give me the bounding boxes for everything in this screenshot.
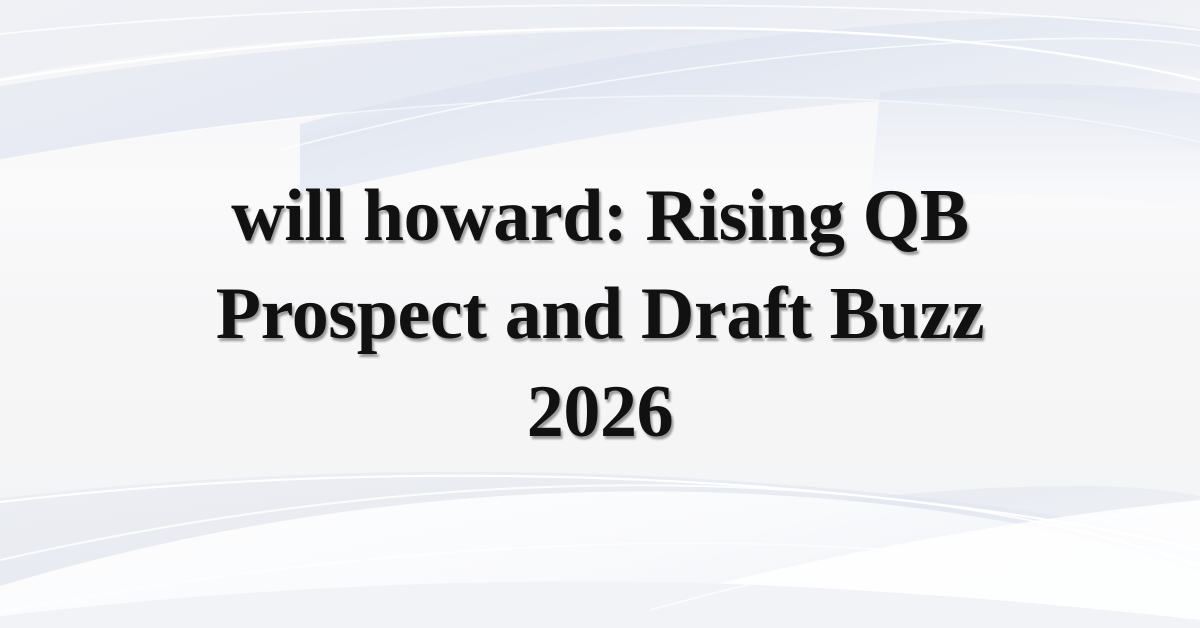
headline-line-3: 2026 (216, 363, 984, 461)
headline-line-1: will howard: Rising QB (216, 167, 984, 265)
social-share-banner: will howard: Rising QB Prospect and Draf… (0, 0, 1200, 628)
page-title: will howard: Rising QB Prospect and Draf… (216, 167, 984, 461)
headline-container: will howard: Rising QB Prospect and Draf… (0, 0, 1200, 628)
headline-line-2: Prospect and Draft Buzz (216, 265, 984, 363)
